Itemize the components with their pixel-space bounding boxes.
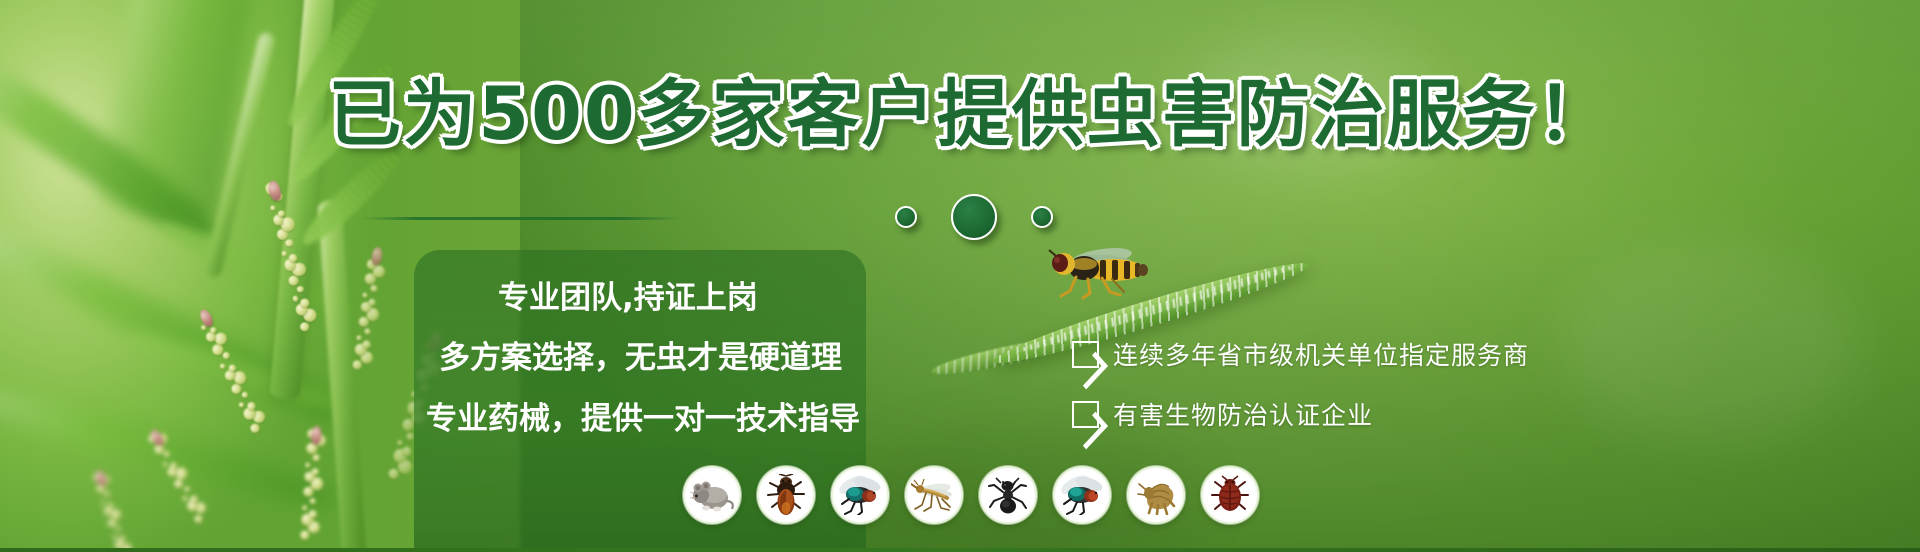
hoverfly-icon: [1040, 243, 1160, 305]
pest-icon-mosquito[interactable]: [905, 466, 963, 524]
decorative-dot: [951, 194, 997, 240]
promo-banner: 已为500多家客户提供虫害防治服务！ 专业团队,持证上岗 多方案选择，无虫才是硬…: [0, 0, 1920, 552]
pest-icon-mouse[interactable]: [683, 466, 741, 524]
credential-label: 有害生物防治认证企业: [1113, 396, 1373, 432]
background-highlight-blob: [1560, 240, 1860, 440]
pest-icon-blowfly[interactable]: [1053, 466, 1111, 524]
checkbox-checked-icon: [1072, 341, 1099, 368]
decorative-dots: [0, 194, 1920, 240]
decorative-dot: [895, 206, 917, 228]
credentials-list: 连续多年省市级机关单位指定服务商 有害生物防治认证企业: [1072, 336, 1529, 432]
checkbox-checked-icon: [1072, 401, 1099, 428]
pest-icon-bedbug[interactable]: [1201, 466, 1259, 524]
pest-icon-strip: [683, 466, 1259, 524]
claim-line: 专业药械，提供一对一技术指导: [414, 403, 866, 436]
decorative-dot: [1031, 206, 1053, 228]
pest-icon-cockroach[interactable]: [757, 466, 815, 524]
bottom-accent-line: [0, 548, 1920, 552]
divider-rule: [362, 217, 680, 220]
claim-line: 多方案选择，无虫才是硬道理: [414, 342, 866, 375]
page-title: 已为500多家客户提供虫害防治服务！: [0, 78, 1920, 151]
pest-icon-fly[interactable]: [831, 466, 889, 524]
claim-line: 专业团队,持证上岗: [414, 282, 866, 315]
list-item: 有害生物防治认证企业: [1072, 396, 1529, 432]
pest-icon-ant[interactable]: [979, 466, 1037, 524]
credential-label: 连续多年省市级机关单位指定服务商: [1113, 336, 1529, 372]
pest-icon-flea[interactable]: [1127, 466, 1185, 524]
list-item: 连续多年省市级机关单位指定服务商: [1072, 336, 1529, 372]
